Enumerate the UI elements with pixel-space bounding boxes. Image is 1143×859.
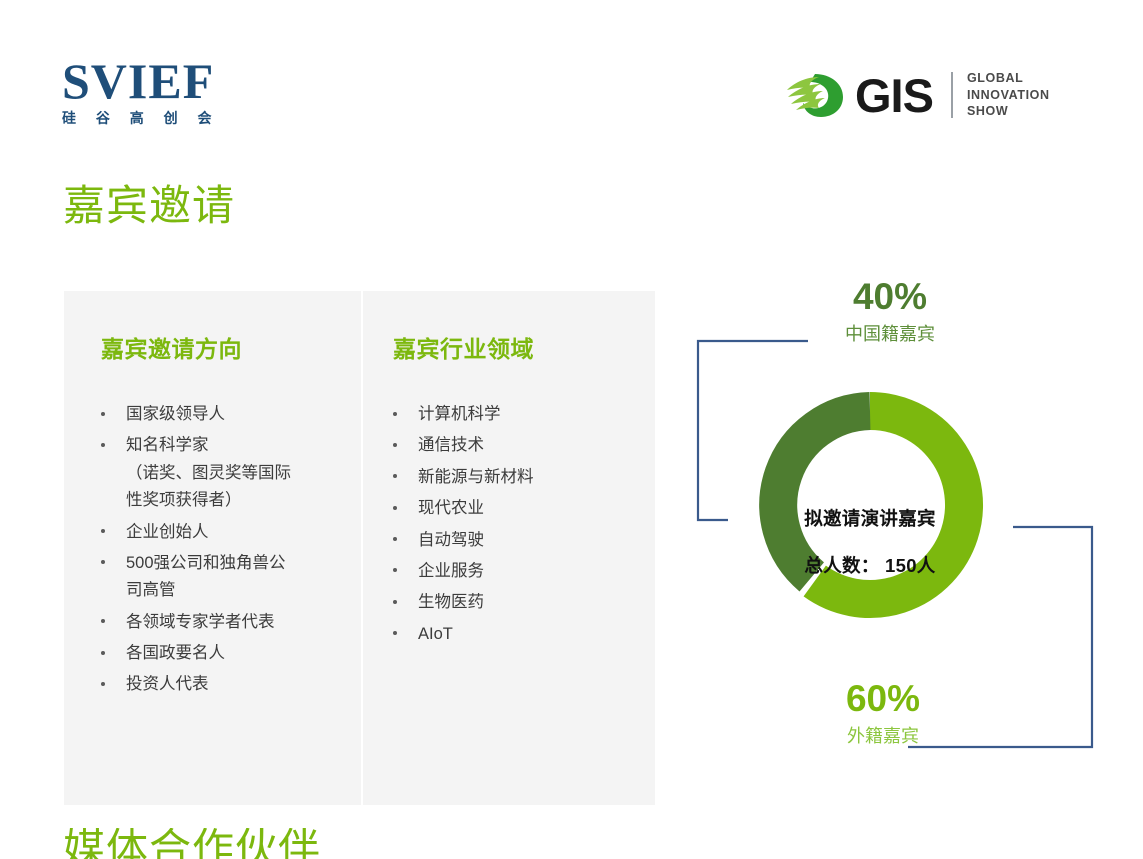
callout-chinese-name: 中国籍嘉宾 xyxy=(785,325,995,343)
bullet-dot-icon xyxy=(393,631,397,635)
bullet-dot-icon xyxy=(101,560,105,564)
list-item-label: （诺奖、图灵奖等国际 xyxy=(126,464,291,482)
list-item-label: 企业创始人 xyxy=(126,523,209,541)
callout-chinese-percent: 40% xyxy=(785,278,995,315)
list-item: 企业服务 xyxy=(390,557,640,585)
guest-nationality-donut-chart: 40% 中国籍嘉宾 60% 外籍嘉宾 拟邀请演讲嘉宾 总人数： 150人 xyxy=(680,270,1135,800)
bullet-dot-icon xyxy=(101,443,105,447)
bullet-dot-icon xyxy=(393,600,397,604)
gis-divider xyxy=(951,72,953,118)
list-item: 投资人代表 xyxy=(98,670,343,698)
panel-industry-fields: 嘉宾行业领域 计算机科学 通信技术 新能源与新材料 现代农业 自动驾驶 企业服务… xyxy=(363,291,655,805)
gis-tagline: GLOBAL INNOVATION SHOW xyxy=(967,70,1050,120)
gis-tagline-line3: SHOW xyxy=(967,103,1050,120)
list-item: 知名科学家 xyxy=(98,431,343,459)
panel-invitation-directions: 嘉宾邀请方向 国家级领导人 知名科学家 （诺奖、图灵奖等国际 性奖项获得者） 企… xyxy=(64,291,361,805)
bullet-dot-icon xyxy=(101,682,105,686)
content-panels: 嘉宾邀请方向 国家级领导人 知名科学家 （诺奖、图灵奖等国际 性奖项获得者） 企… xyxy=(64,291,655,805)
page-title: 嘉宾邀请 xyxy=(63,185,235,227)
bullet-dot-icon xyxy=(393,568,397,572)
list-item-label: 计算机科学 xyxy=(418,405,501,423)
slide-canvas: SVIEF 硅 谷 高 创 会 GIS GLOBAL INNOVATION SH… xyxy=(0,0,1143,859)
list-item-label: 投资人代表 xyxy=(126,675,209,693)
list-item-continuation: 司高管 xyxy=(98,576,343,604)
list-item-label: 自动驾驶 xyxy=(418,531,484,549)
gis-tagline-line1: GLOBAL xyxy=(967,70,1050,87)
list-invitation-directions: 国家级领导人 知名科学家 （诺奖、图灵奖等国际 性奖项获得者） 企业创始人 50… xyxy=(98,400,343,702)
list-item-label: AIoT xyxy=(418,625,453,643)
bullet-dot-icon xyxy=(101,651,105,655)
bullet-dot-icon xyxy=(101,529,105,533)
bullet-dot-icon xyxy=(393,537,397,541)
bullet-dot-icon xyxy=(393,506,397,510)
bullet-dot-icon xyxy=(393,412,397,416)
callout-foreign-name: 外籍嘉宾 xyxy=(778,727,988,745)
list-item-label: 500强公司和独角兽公 xyxy=(126,554,286,572)
callout-chinese-guests: 40% 中国籍嘉宾 xyxy=(785,278,995,343)
next-section-title: 媒体合作伙伴 xyxy=(63,828,321,859)
callout-foreign-guests: 60% 外籍嘉宾 xyxy=(778,680,988,745)
list-item: 新能源与新材料 xyxy=(390,463,640,491)
list-item-label: 企业服务 xyxy=(418,562,484,580)
list-item: 各领域专家学者代表 xyxy=(98,608,343,636)
list-item-label: 司高管 xyxy=(126,581,176,599)
bullet-dot-icon xyxy=(393,474,397,478)
list-item-continuation: 性奖项获得者） xyxy=(98,486,343,514)
list-item: 各国政要名人 xyxy=(98,639,343,667)
list-item-label: 各国政要名人 xyxy=(126,644,225,662)
list-item-label: 生物医药 xyxy=(418,593,484,611)
list-item: 国家级领导人 xyxy=(98,400,343,428)
list-item-label: 国家级领导人 xyxy=(126,405,225,423)
list-item-label: 性奖项获得者） xyxy=(126,491,242,509)
gis-leaf-swoosh-icon xyxy=(785,70,851,120)
donut-center-line1: 拟邀请演讲嘉宾 xyxy=(796,507,944,531)
list-item-continuation: （诺奖、图灵奖等国际 xyxy=(98,459,343,487)
list-item-label: 新能源与新材料 xyxy=(418,468,534,486)
svief-subtitle: 硅 谷 高 创 会 xyxy=(62,111,302,125)
list-item-label: 各领域专家学者代表 xyxy=(126,613,275,631)
donut-center-line2: 总人数： 150人 xyxy=(796,554,944,578)
list-item-label: 现代农业 xyxy=(418,499,484,517)
bullet-dot-icon xyxy=(101,619,105,623)
panel-heading-invitation-directions: 嘉宾邀请方向 xyxy=(101,338,242,361)
list-item: 500强公司和独角兽公 xyxy=(98,549,343,577)
svief-wordmark: SVIEF xyxy=(62,56,302,106)
list-item-label: 知名科学家 xyxy=(126,436,209,454)
list-industry-fields: 计算机科学 通信技术 新能源与新材料 现代农业 自动驾驶 企业服务 生物医药 A… xyxy=(390,400,640,651)
gis-tagline-line2: INNOVATION xyxy=(967,87,1050,104)
list-item: 通信技术 xyxy=(390,431,640,459)
callout-foreign-percent: 60% xyxy=(778,680,988,717)
list-item: 自动驾驶 xyxy=(390,526,640,554)
gis-wordmark: GIS xyxy=(855,72,933,119)
list-item: 生物医药 xyxy=(390,588,640,616)
list-item: 企业创始人 xyxy=(98,518,343,546)
donut-center-label: 拟邀请演讲嘉宾 总人数： 150人 xyxy=(796,483,944,601)
svief-logo: SVIEF 硅 谷 高 创 会 xyxy=(62,56,302,130)
bullet-dot-icon xyxy=(393,443,397,447)
list-item-label: 通信技术 xyxy=(418,436,484,454)
list-item: AIoT xyxy=(390,620,640,648)
bullet-dot-icon xyxy=(101,412,105,416)
panel-heading-industry-fields: 嘉宾行业领域 xyxy=(393,338,534,361)
list-item: 计算机科学 xyxy=(390,400,640,428)
gis-logo: GIS GLOBAL INNOVATION SHOW xyxy=(785,64,1050,126)
list-item: 现代农业 xyxy=(390,494,640,522)
